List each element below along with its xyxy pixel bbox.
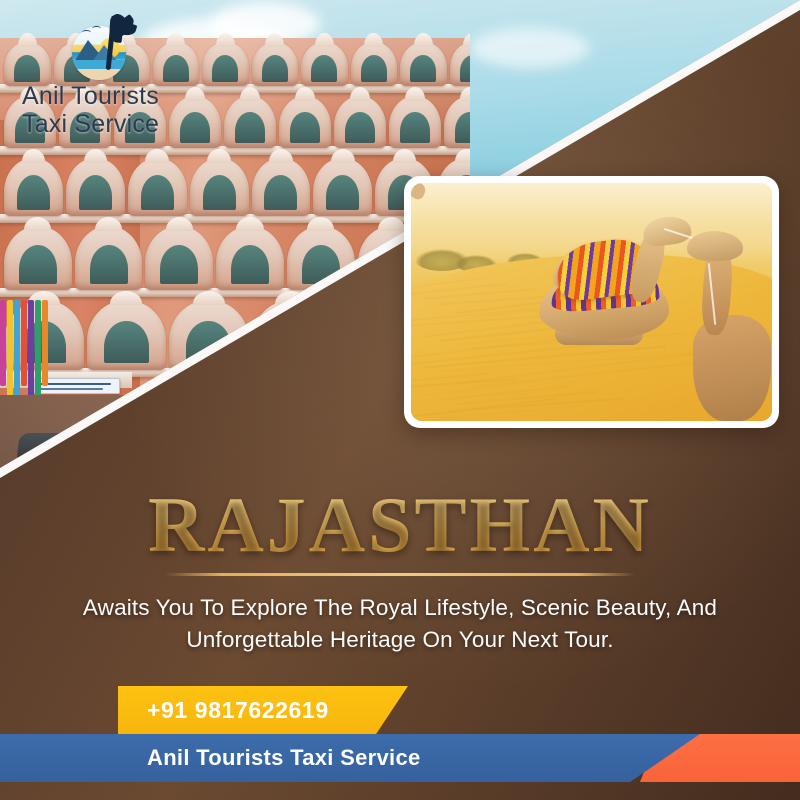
palace-jharokha-window bbox=[252, 42, 299, 86]
subtitle: Awaits You To Explore The Royal Lifestyl… bbox=[80, 592, 720, 656]
brand-name-line2: Taxi Service bbox=[22, 110, 212, 138]
palace-jharokha-window bbox=[389, 96, 441, 148]
palace-jharokha-window bbox=[400, 42, 447, 86]
palace-jharokha-window bbox=[66, 158, 125, 216]
palace-window-row bbox=[0, 158, 470, 216]
tourism-poster: Anil Tourists Taxi Service RAJASTHAN Awa… bbox=[0, 0, 800, 800]
palace-jharokha-window bbox=[279, 96, 331, 148]
palace-jharokha-window bbox=[87, 300, 167, 370]
desert-camels-photo-card bbox=[404, 176, 779, 428]
fabric-strip bbox=[42, 300, 48, 386]
title-underline bbox=[165, 573, 635, 576]
palace-jharokha-window bbox=[313, 158, 372, 216]
fabric-strip bbox=[28, 300, 34, 396]
palace-jharokha-window bbox=[4, 158, 63, 216]
brand-name-line1: Anil Tourists bbox=[22, 82, 212, 110]
palace-jharokha-window bbox=[75, 226, 143, 290]
palace-jharokha-window bbox=[145, 226, 213, 290]
subtitle-line1: Awaits You To Explore The Royal Lifestyl… bbox=[83, 595, 589, 620]
brand-logo: Anil Tourists Taxi Service bbox=[22, 18, 212, 138]
desert-camels-photo bbox=[411, 183, 772, 421]
headline-block: RAJASTHAN Awaits You To Explore The Roya… bbox=[0, 486, 800, 656]
palm-beach-circle-logo-icon bbox=[68, 18, 130, 80]
company-name-bar: Anil Tourists Taxi Service bbox=[0, 734, 700, 782]
palace-jharokha-window bbox=[301, 42, 348, 86]
palace-jharokha-window bbox=[216, 226, 284, 290]
company-name-text: Anil Tourists Taxi Service bbox=[147, 745, 421, 771]
palace-jharokha-window bbox=[128, 158, 187, 216]
camel-background-head bbox=[687, 231, 743, 261]
palace-jharokha-window bbox=[450, 42, 471, 86]
cloud bbox=[470, 28, 590, 68]
contact-bar: +91 9817622619 Anil Tourists Taxi Servic… bbox=[0, 672, 800, 800]
palace-jharokha-window bbox=[444, 96, 470, 148]
fabric-strip bbox=[0, 300, 6, 386]
palace-jharokha-window bbox=[334, 96, 386, 148]
street-fabric-display bbox=[0, 300, 48, 410]
camel-background-body bbox=[693, 315, 771, 421]
palace-jharokha-window bbox=[351, 42, 398, 86]
fabric-strip bbox=[14, 300, 20, 406]
palace-jharokha-window bbox=[252, 158, 311, 216]
page-title: RAJASTHAN bbox=[0, 486, 800, 564]
phone-number-bar[interactable]: +91 9817622619 bbox=[118, 686, 408, 734]
palace-jharokha-window bbox=[224, 96, 276, 148]
fabric-strip bbox=[21, 300, 27, 386]
fabric-strip bbox=[35, 300, 41, 406]
palace-jharokha-window bbox=[190, 158, 249, 216]
palace-jharokha-window bbox=[4, 226, 72, 290]
fabric-strip bbox=[7, 300, 13, 396]
phone-number-text[interactable]: +91 9817622619 bbox=[147, 697, 329, 724]
